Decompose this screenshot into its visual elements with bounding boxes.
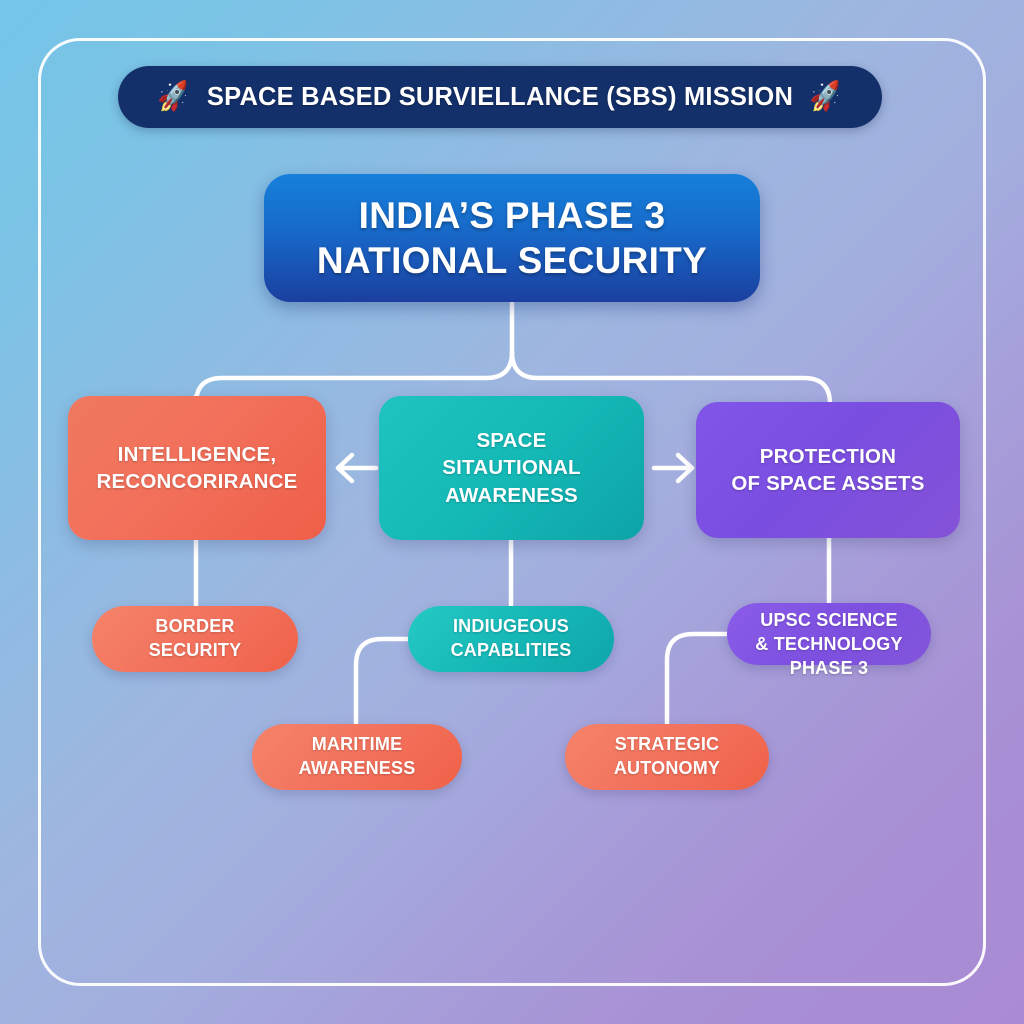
root-node-national-security: INDIA’S PHASE 3 NATIONAL SECURITY <box>264 174 760 302</box>
leaf-maritime-awareness: MARITIME AWARENESS <box>252 724 462 790</box>
rocket-icon-right: 🚀 <box>807 81 844 112</box>
infographic-canvas: 🚀 SPACE BASED SURVIELLANCE (SBS) MISSION… <box>0 0 1024 1024</box>
root-title-line-2: NATIONAL SECURITY <box>317 238 707 283</box>
leaf-upsc-science-technology-phase-3: UPSC SCIENCE & TECHNOLOGY PHASE 3 <box>727 603 931 665</box>
pillar-protection-of-space-assets: PROTECTION OF SPACE ASSETS <box>696 402 960 538</box>
leaf-strategic-autonomy: STRATEGIC AUTONOMY <box>565 724 769 790</box>
pillar-label: SPACE SITAUTIONAL AWARENESS <box>442 427 580 508</box>
leaf-label: INDIUGEOUS CAPABLITIES <box>451 615 572 663</box>
rocket-icon-left: 🚀 <box>156 81 193 112</box>
header-title: SPACE BASED SURVIELLANCE (SBS) MISSION <box>207 83 793 112</box>
pillar-label: PROTECTION OF SPACE ASSETS <box>731 443 924 497</box>
leaf-label: UPSC SCIENCE & TECHNOLOGY PHASE 3 <box>755 609 902 680</box>
root-title-line-1: INDIA’S PHASE 3 <box>359 193 666 238</box>
pillar-intelligence-reconnaissance: INTELLIGENCE, RECONCORIRANCE <box>68 396 326 540</box>
pillar-space-situational-awareness: SPACE SITAUTIONAL AWARENESS <box>379 396 644 540</box>
header-ribbon: 🚀 SPACE BASED SURVIELLANCE (SBS) MISSION… <box>118 66 882 128</box>
arrow-left-icon <box>338 455 376 481</box>
leaf-border-security: BORDER SECURITY <box>92 606 298 672</box>
arrow-right-icon <box>654 455 692 481</box>
leaf-label: STRATEGIC AUTONOMY <box>614 733 720 781</box>
leaf-indigenous-capabilities: INDIUGEOUS CAPABLITIES <box>408 606 614 672</box>
leaf-label: BORDER SECURITY <box>149 615 242 663</box>
leaf-label: MARITIME AWARENESS <box>299 733 416 781</box>
pillar-label: INTELLIGENCE, RECONCORIRANCE <box>97 441 298 495</box>
